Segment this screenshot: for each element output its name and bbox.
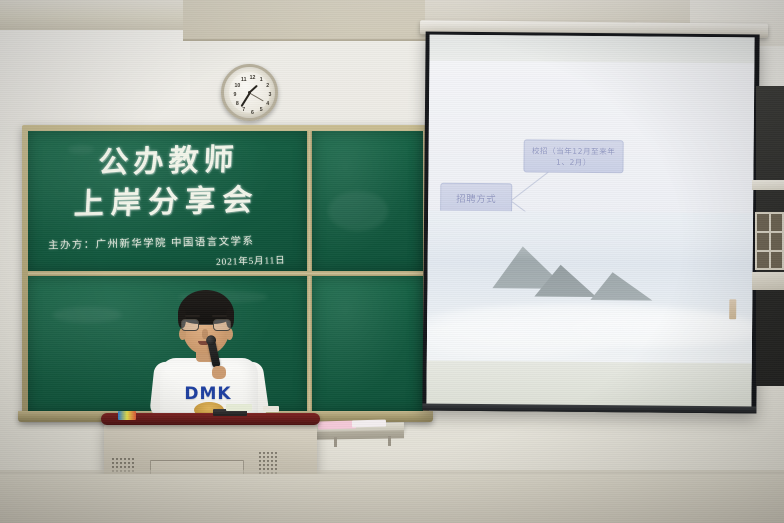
wall-upper-left-patch: [0, 26, 190, 126]
vent-slat: [112, 466, 114, 468]
presentation-slide: 招聘方式 校招（当年12月至来年1、2月） 社招（当年12月-来年4、5月）: [427, 61, 755, 364]
vent-slat: [263, 456, 265, 458]
vent-slat: [116, 458, 118, 460]
shelf-bracket: [334, 437, 337, 447]
vent-slat: [124, 462, 126, 464]
right-wall-ledge: [752, 180, 784, 190]
vent-slat: [275, 464, 277, 466]
clock-numeral: 2: [262, 82, 274, 91]
clock-face: 121234567891011: [229, 72, 270, 113]
vent-slat: [267, 464, 269, 466]
presenter-hand-right: [212, 366, 226, 379]
vent-slat: [112, 462, 114, 464]
screen-sticker: [729, 299, 736, 319]
slide-node-campus-recruiting: 校招（当年12月至来年1、2月）: [523, 139, 623, 173]
vent-slat: [116, 462, 118, 464]
paper-stack: [263, 406, 279, 412]
floor: [0, 474, 784, 523]
vent-slat: [271, 464, 273, 466]
vent-slat: [263, 452, 265, 454]
slide-node-root-label: 招聘方式: [456, 191, 496, 205]
chalkboard-divider-horizontal: [28, 271, 423, 276]
colored-booklet: [118, 411, 136, 420]
vent-slat: [116, 466, 118, 468]
vent-slat: [132, 466, 134, 468]
chalkboard-date: 2021年5月11日: [216, 252, 286, 268]
vent-slat: [259, 452, 261, 454]
chalk-smudge: [52, 307, 122, 323]
lens-right: [213, 319, 231, 331]
vent-slat: [275, 460, 277, 462]
slide-bottom-margin: [426, 361, 751, 409]
pink-paper-sheets: [318, 421, 356, 430]
vent-slat: [128, 466, 130, 468]
vent-slat: [267, 456, 269, 458]
clock-numeral: 3: [264, 91, 276, 100]
shirt-graphic-text: DMK: [168, 384, 248, 404]
paper-stack: [226, 404, 252, 411]
vent-slat: [259, 464, 261, 466]
ceiling-beam-edge: [183, 39, 433, 41]
vent-slat: [259, 456, 261, 458]
vent-slat: [112, 458, 114, 460]
vent-slat: [124, 458, 126, 460]
projection-screen[interactable]: 招聘方式 校招（当年12月至来年1、2月） 社招（当年12月-来年4、5月）: [422, 32, 759, 414]
wall-unit-box: [752, 272, 784, 290]
vent-slat: [271, 456, 273, 458]
chalkboard-title-line1: 公办教师: [98, 143, 240, 179]
slide-top-margin: [429, 35, 754, 64]
vent-slat: [271, 460, 273, 462]
vent-slat: [128, 462, 130, 464]
window-grid: [755, 212, 784, 270]
eyeglasses: [181, 319, 231, 331]
vent-slat: [259, 460, 261, 462]
clock-second-hand: [249, 92, 263, 101]
vent-slat: [132, 462, 134, 464]
vent-slat: [267, 452, 269, 454]
vent-slat: [120, 466, 122, 468]
lens-left: [181, 319, 199, 331]
classroom-photo-scene: 121234567891011 公办教师 上岸分享会 主办方：广州新华学院 中国…: [0, 0, 784, 523]
vent-slat: [263, 464, 265, 466]
vent-slat: [120, 462, 122, 464]
chalkboard-panel-bottom-right: [312, 276, 423, 412]
vent-slat: [128, 458, 130, 460]
vent-slat: [124, 466, 126, 468]
vent-slat: [271, 452, 273, 454]
slide-connector-top: [512, 171, 549, 200]
vent-slat: [132, 458, 134, 460]
chalkboard-title: 公办教师 上岸分享会: [26, 138, 309, 227]
vent-slat: [263, 460, 265, 462]
vent-slat: [275, 452, 277, 454]
shelf-bracket: [388, 436, 391, 446]
vent-slat: [267, 460, 269, 462]
slide-node-campus-recruiting-label: 校招（当年12月至来年1、2月）: [526, 145, 620, 168]
ceiling-beam: [183, 0, 433, 40]
projection-screen-surface: 招聘方式 校招（当年12月至来年1、2月） 社招（当年12月-来年4、5月）: [426, 35, 754, 409]
clock-numeral: 11: [238, 76, 250, 85]
white-paper: [352, 420, 386, 428]
chalkboard-title-line2: 上岸分享会: [26, 179, 307, 227]
slide-node-root: 招聘方式: [440, 183, 512, 214]
vent-slat: [275, 456, 277, 458]
chalk-smudge: [328, 191, 388, 231]
glasses-bridge: [199, 324, 213, 325]
vent-slat: [120, 458, 122, 460]
clock-numeral: 9: [229, 91, 241, 100]
wall-clock: 121234567891011: [221, 64, 278, 121]
